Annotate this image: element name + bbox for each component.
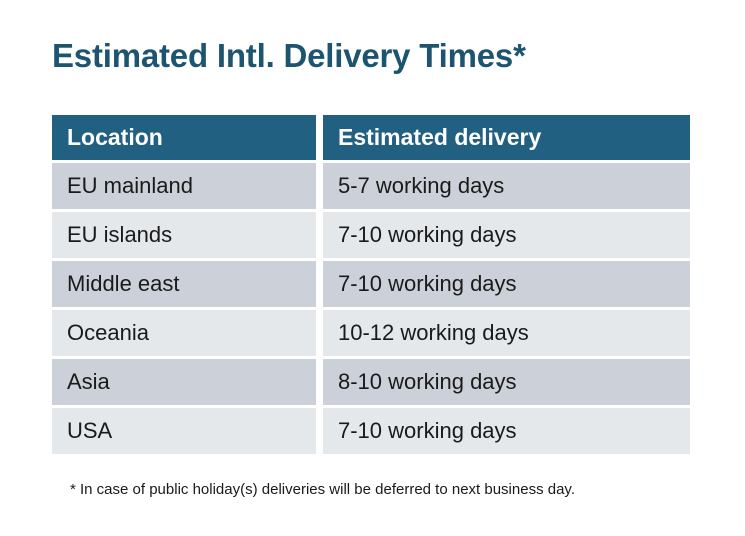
cell-location: EU islands [52, 212, 316, 258]
cell-delivery: 7-10 working days [323, 408, 690, 454]
cell-location: Asia [52, 359, 316, 405]
footnote-text: * In case of public holiday(s) deliverie… [70, 481, 575, 498]
cell-location: EU mainland [52, 163, 316, 209]
table-row: EU islands 7-10 working days [52, 212, 690, 258]
table-row: USA 7-10 working days [52, 408, 690, 454]
cell-delivery: 7-10 working days [323, 261, 690, 307]
page-title: Estimated Intl. Delivery Times* [52, 36, 526, 76]
cell-delivery: 5-7 working days [323, 163, 690, 209]
table-row: Middle east 7-10 working days [52, 261, 690, 307]
table-row: EU mainland 5-7 working days [52, 163, 690, 209]
cell-location: USA [52, 408, 316, 454]
column-header-location: Location [52, 115, 316, 160]
cell-delivery: 8-10 working days [323, 359, 690, 405]
cell-delivery: 7-10 working days [323, 212, 690, 258]
cell-location: Middle east [52, 261, 316, 307]
column-header-estimated-delivery: Estimated delivery [323, 115, 690, 160]
delivery-times-table: Location Estimated delivery EU mainland … [52, 115, 690, 457]
table-header-row: Location Estimated delivery [52, 115, 690, 160]
cell-location: Oceania [52, 310, 316, 356]
table-row: Oceania 10-12 working days [52, 310, 690, 356]
delivery-times-page: Estimated Intl. Delivery Times* Location… [0, 0, 745, 536]
table-row: Asia 8-10 working days [52, 359, 690, 405]
cell-delivery: 10-12 working days [323, 310, 690, 356]
